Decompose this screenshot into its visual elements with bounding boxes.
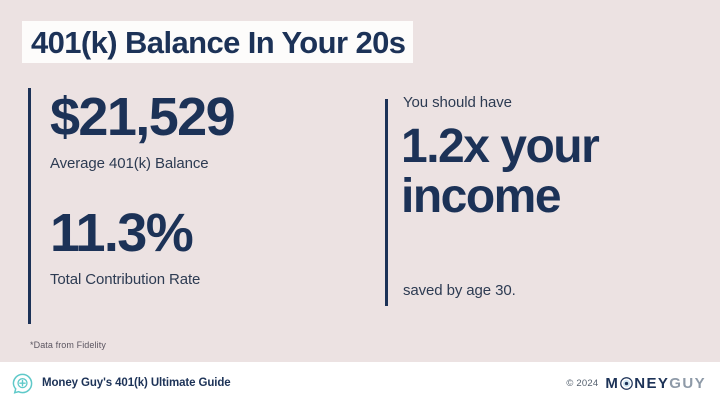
copyright-text: © 2024	[566, 378, 598, 389]
brand-logo-part-3: GUY	[669, 376, 706, 391]
stat-average-balance-value: $21,529	[50, 90, 234, 144]
stat-average-balance-label: Average 401(k) Balance	[50, 155, 234, 172]
left-column-body: $21,529 Average 401(k) Balance 11.3% Tot…	[28, 84, 368, 330]
data-source-footnote: *Data from Fidelity	[30, 340, 106, 350]
stats-columns: $21,529 Average 401(k) Balance 11.3% Tot…	[0, 84, 720, 330]
recommendation-headline-line-2: income	[401, 172, 701, 222]
recommendation-tail-text: saved by age 30.	[403, 282, 516, 299]
brand-o-target-icon	[620, 377, 633, 390]
footer-brand-group: © 2024 M NEY GUY	[566, 376, 706, 391]
right-recommendation-column: You should have 1.2x your income saved b…	[385, 84, 705, 330]
footer-guide-link[interactable]: Money Guy's 401(k) Ultimate Guide	[12, 373, 231, 394]
stat-contribution-rate: 11.3% Total Contribution Rate	[50, 206, 200, 288]
stat-average-balance: $21,529 Average 401(k) Balance	[50, 90, 234, 172]
recommendation-headline-line-1: 1.2x your	[401, 122, 701, 172]
page-title: 401(k) Balance In Your 20s	[31, 27, 405, 58]
brand-logo-part-2: NEY	[634, 376, 669, 391]
stat-contribution-rate-value: 11.3%	[50, 206, 200, 260]
brand-logo-part-1: M	[605, 376, 619, 391]
right-column-body: You should have 1.2x your income saved b…	[385, 84, 705, 330]
page-title-band: 401(k) Balance In Your 20s	[22, 21, 413, 63]
stat-contribution-rate-label: Total Contribution Rate	[50, 271, 200, 288]
footer-bar: Money Guy's 401(k) Ultimate Guide © 2024…	[0, 362, 720, 404]
footer-guide-title: Money Guy's 401(k) Ultimate Guide	[42, 377, 231, 389]
infographic-root: 401(k) Balance In Your 20s $21,529 Avera…	[0, 0, 720, 404]
left-stat-column: $21,529 Average 401(k) Balance 11.3% Tot…	[28, 84, 368, 330]
moneyguy-logo[interactable]: M NEY GUY	[605, 376, 706, 391]
recommendation-headline: 1.2x your income	[401, 122, 701, 222]
recommendation-lead-text: You should have	[403, 94, 512, 111]
moneyguy-badge-icon	[12, 373, 33, 394]
